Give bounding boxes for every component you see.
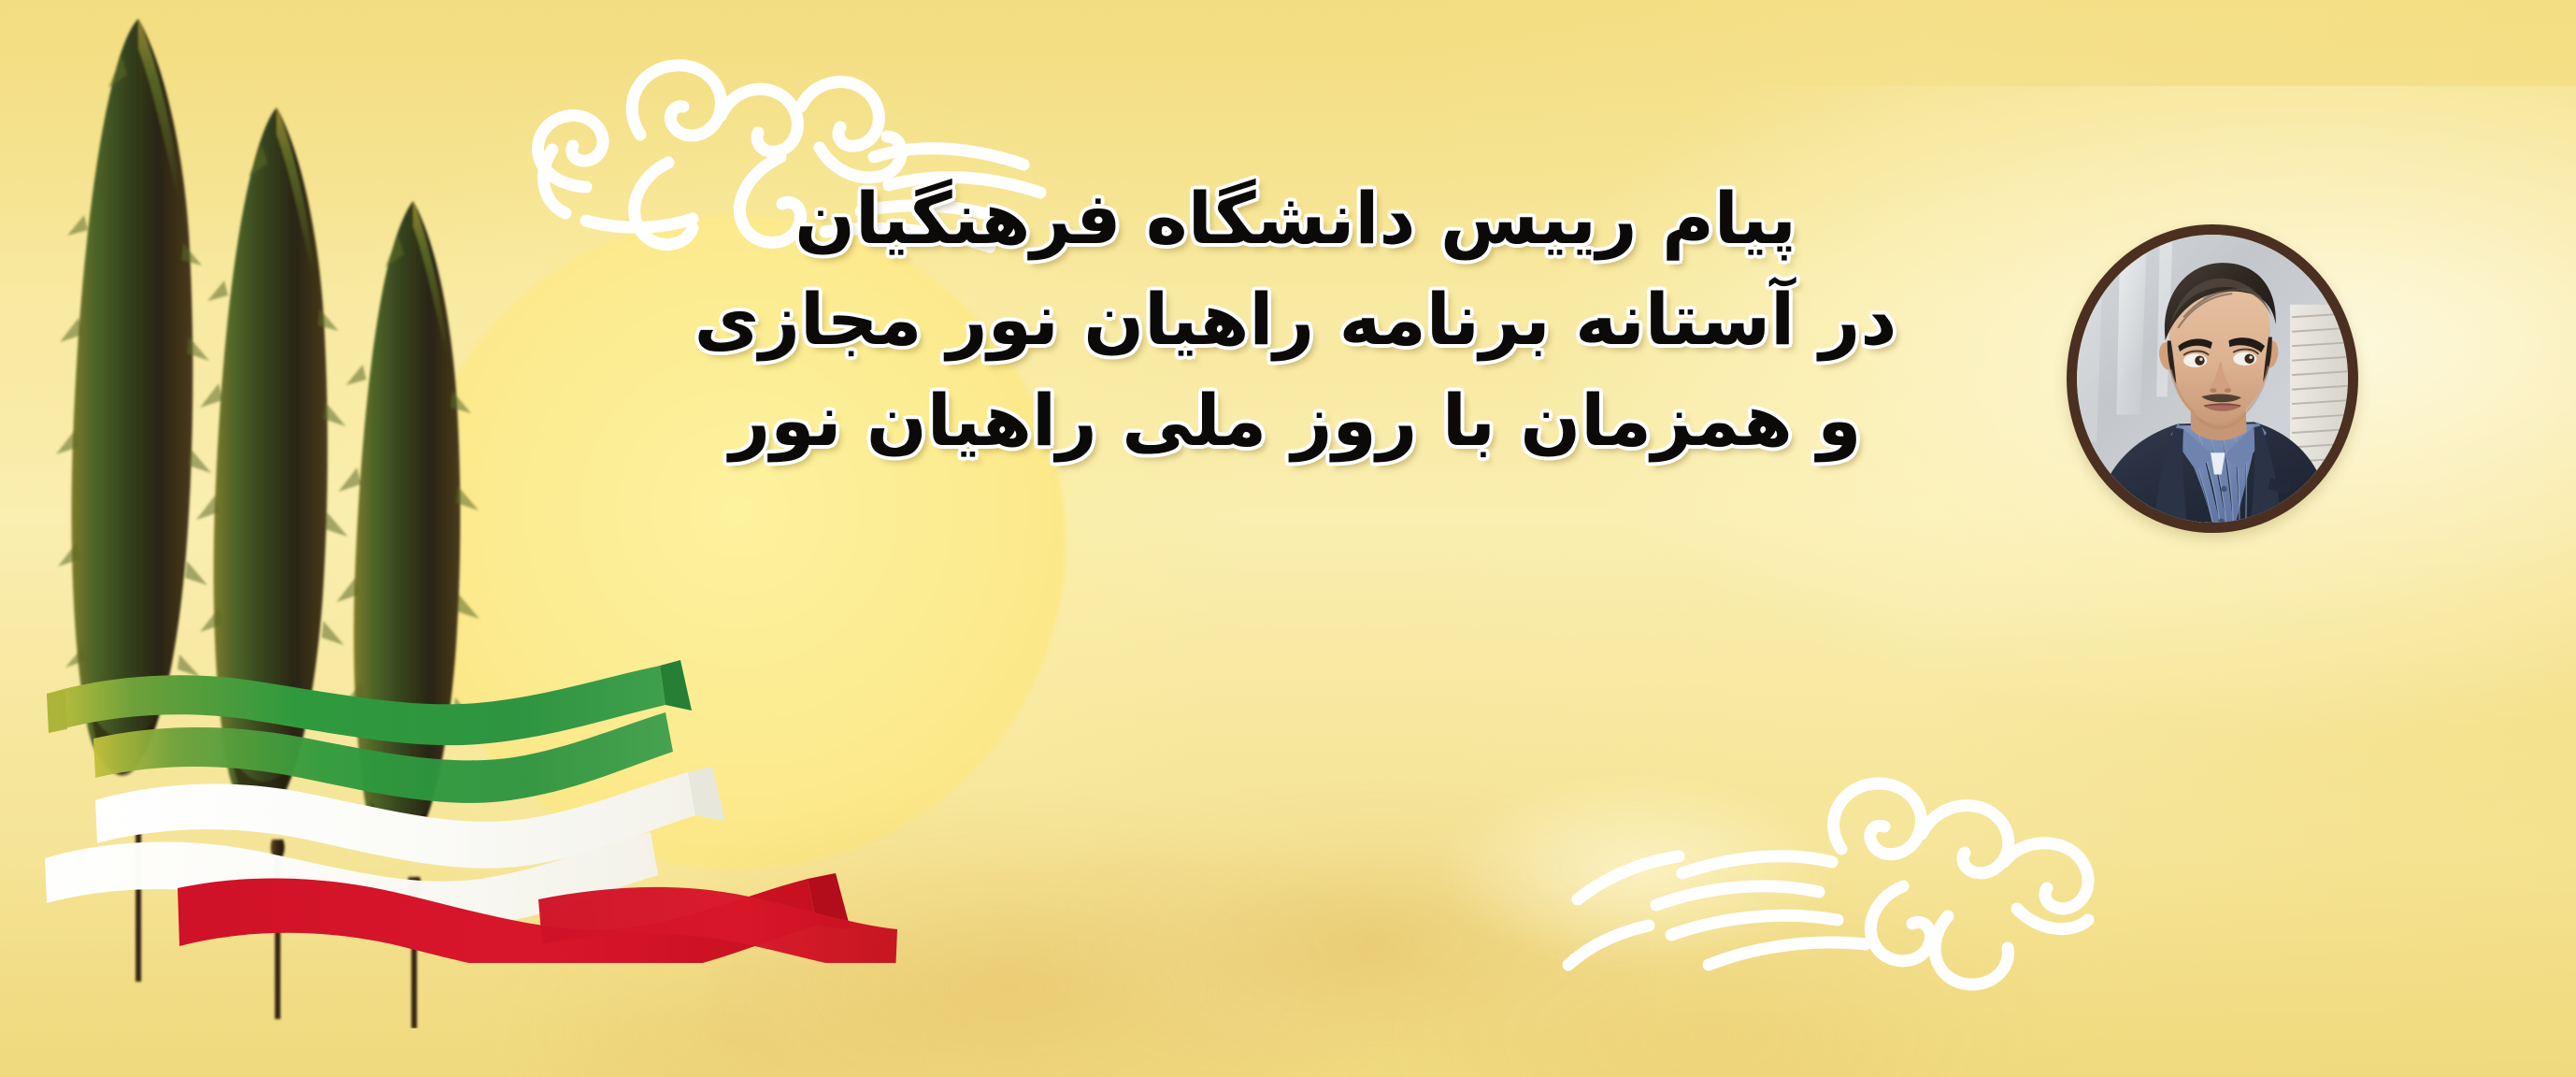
- headline-line-1: پیام رییس دانشگاه فرهنگیان: [688, 168, 1903, 269]
- headline-line-2: در آستانه برنامه راهیان نور مجازی: [688, 269, 1903, 370]
- portrait-avatar: [2067, 224, 2358, 533]
- banner-image: پیام رییس دانشگاه فرهنگیان در آستانه برن…: [0, 0, 2576, 1077]
- painted-cloud-highlight: [1439, 778, 1832, 965]
- headline-block: پیام رییس دانشگاه فرهنگیان در آستانه برن…: [688, 168, 1903, 471]
- iran-flag-ribbons: [37, 608, 981, 963]
- portrait-photo: [2077, 235, 2348, 523]
- headline-line-3: و همزمان با روز ملی راهیان نور: [688, 370, 1903, 471]
